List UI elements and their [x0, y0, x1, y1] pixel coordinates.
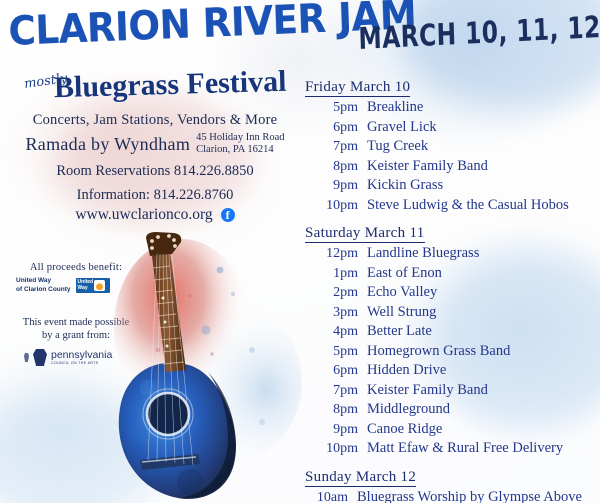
- slot-act: East of Enon: [367, 264, 442, 284]
- title-block: CLARION RIVER JAM mostly Bluegrass Festi…: [8, 12, 348, 104]
- schedule-slot: 6pm Gravel Lick: [305, 118, 600, 138]
- schedule-slot: 4pm Better Late: [305, 322, 600, 342]
- room-reservations-line: Room Reservations 814.226.8850: [0, 161, 310, 181]
- website-url[interactable]: www.uwclarionco.org: [75, 206, 212, 224]
- slot-time: 9pm: [305, 420, 367, 440]
- slot-act: Well Strung: [367, 303, 436, 323]
- united-way-text: United Way of Clarion County: [16, 277, 71, 294]
- united-way-logo-line-2: Way: [78, 286, 94, 292]
- schedule-slot: 9pm Kickin Grass: [305, 176, 600, 196]
- slot-act: Gravel Lick: [367, 118, 437, 138]
- venue-address-line-1: 45 Holiday Inn Road: [196, 132, 284, 143]
- slot-time: 12pm: [305, 244, 367, 264]
- schedule-slot: 5pm Homegrown Grass Band: [305, 342, 600, 362]
- pa-small-keystone-icon: [24, 353, 29, 362]
- slot-time: 2pm: [305, 283, 367, 303]
- slot-time: 8pm: [305, 400, 367, 420]
- slot-time: 6pm: [305, 361, 367, 381]
- slot-time: 4pm: [305, 322, 367, 342]
- event-info-block: Concerts, Jam Stations, Vendors & More R…: [0, 110, 310, 224]
- schedule-slot: 8pm Middleground: [305, 400, 600, 420]
- day-heading: Sunday March 12: [305, 469, 416, 487]
- slot-act: Homegrown Grass Band: [367, 342, 510, 362]
- festival-schedule: Friday March 10 5pm Breakline 6pm Gravel…: [305, 78, 600, 503]
- venue-address-line-2: Clarion, PA 16214: [196, 144, 274, 155]
- slot-time: 5pm: [305, 98, 367, 118]
- slot-act: Tug Creek: [367, 137, 428, 157]
- slot-act: Keister Family Band: [367, 381, 488, 401]
- slot-act: Canoe Ridge: [367, 420, 442, 440]
- slot-time: 7pm: [305, 381, 367, 401]
- pa-subtitle: COUNCIL ON THE ARTS: [51, 361, 112, 366]
- page-title: CLARION RIVER JAM: [8, 0, 325, 52]
- schedule-slot: 7pm Keister Family Band: [305, 381, 600, 401]
- pa-name: pennsylvania: [51, 350, 112, 361]
- united-way-line-1: United Way: [16, 277, 71, 286]
- facebook-icon[interactable]: f: [221, 208, 235, 222]
- slot-act: Keister Family Band: [367, 157, 488, 177]
- slot-time: 8pm: [305, 157, 367, 177]
- info-concerts-line: Concerts, Jam Stations, Vendors & More: [0, 110, 310, 130]
- united-way-line-2: of Clarion County: [16, 286, 71, 295]
- schedule-slot: 3pm Well Strung: [305, 303, 600, 323]
- schedule-slot: 8pm Keister Family Band: [305, 157, 600, 177]
- day-heading: Saturday March 11: [305, 225, 425, 243]
- schedule-slot: 1pm East of Enon: [305, 264, 600, 284]
- schedule-slot: 6pm Hidden Drive: [305, 361, 600, 381]
- venue-name: Ramada by Wyndham: [25, 134, 190, 155]
- schedule-slot: 10am Bluegrass Worship by Glympse Above: [305, 488, 600, 503]
- united-way-logo-icon: United Way: [76, 278, 110, 293]
- slot-time: 7pm: [305, 137, 367, 157]
- title-subtitle: Bluegrass Festival: [54, 65, 287, 105]
- schedule-slot: 9pm Canoe Ridge: [305, 420, 600, 440]
- pa-keystone-icon: [33, 349, 47, 366]
- schedule-day-sunday: Sunday March 12 10am Bluegrass Worship b…: [305, 468, 600, 503]
- united-way-logo-text: United Way: [78, 280, 94, 291]
- schedule-day-saturday: Saturday March 11 12pm Landline Bluegras…: [305, 224, 600, 459]
- slot-act: Kickin Grass: [367, 176, 443, 196]
- schedule-slot: 10pm Matt Efaw & Rural Free Delivery: [305, 439, 600, 459]
- venue-address: 45 Holiday Inn Road Clarion, PA 16214: [196, 132, 284, 156]
- slot-act: Matt Efaw & Rural Free Delivery: [367, 439, 563, 459]
- schedule-slot: 7pm Tug Creek: [305, 137, 600, 157]
- slot-time: 3pm: [305, 303, 367, 323]
- day-heading: Friday March 10: [305, 79, 410, 97]
- slot-act: Landline Bluegrass: [367, 244, 479, 264]
- pa-council-text: pennsylvania COUNCIL ON THE ARTS: [51, 350, 112, 366]
- slot-time: 10pm: [305, 196, 367, 216]
- slot-time: 1pm: [305, 264, 367, 284]
- event-poster: CLARION RIVER JAM mostly Bluegrass Festi…: [0, 0, 600, 503]
- schedule-slot: 2pm Echo Valley: [305, 283, 600, 303]
- slot-act: Echo Valley: [367, 283, 437, 303]
- slot-time: 10am: [305, 488, 357, 503]
- schedule-slot: 5pm Breakline: [305, 98, 600, 118]
- schedule-slot: 10pm Steve Ludwig & the Casual Hobos: [305, 196, 600, 216]
- united-way-hand-icon: [94, 280, 105, 291]
- schedule-slot: 12pm Landline Bluegrass: [305, 244, 600, 264]
- schedule-day-friday: Friday March 10 5pm Breakline 6pm Gravel…: [305, 78, 600, 215]
- venue-row: Ramada by Wyndham 45 Holiday Inn Road Cl…: [0, 132, 310, 156]
- slot-time: 10pm: [305, 439, 367, 459]
- slot-time: 5pm: [305, 342, 367, 362]
- slot-act: Middleground: [367, 400, 450, 420]
- slot-time: 6pm: [305, 118, 367, 138]
- slot-act: Bluegrass Worship by Glympse Above: [357, 488, 582, 503]
- website-row: www.uwclarionco.org f: [0, 206, 310, 224]
- slot-act: Breakline: [367, 98, 423, 118]
- slot-act: Better Late: [367, 322, 432, 342]
- slot-time: 9pm: [305, 176, 367, 196]
- information-phone-line: Information: 814.226.8760: [0, 185, 310, 205]
- slot-act: Hidden Drive: [367, 361, 446, 381]
- slot-act: Steve Ludwig & the Casual Hobos: [367, 196, 569, 216]
- watercolor-guitar-artwork: [112, 232, 307, 503]
